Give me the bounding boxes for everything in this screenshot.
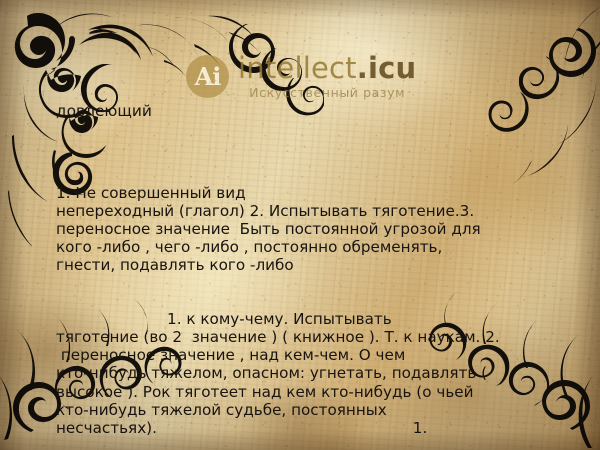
page-title: довлеющий xyxy=(56,102,552,120)
parchment-slide: Ai intellect.icu Искусственный разум дов… xyxy=(0,0,600,450)
entry-definition-2: 1. к кому-чему. Испытывать тяготение (во… xyxy=(56,310,552,437)
dictionary-entry: довлеющий 1. Не совершенный вид неперехо… xyxy=(56,66,552,450)
entry-definition-1: 1. Не совершенный вид непереходный (глаг… xyxy=(56,184,552,274)
